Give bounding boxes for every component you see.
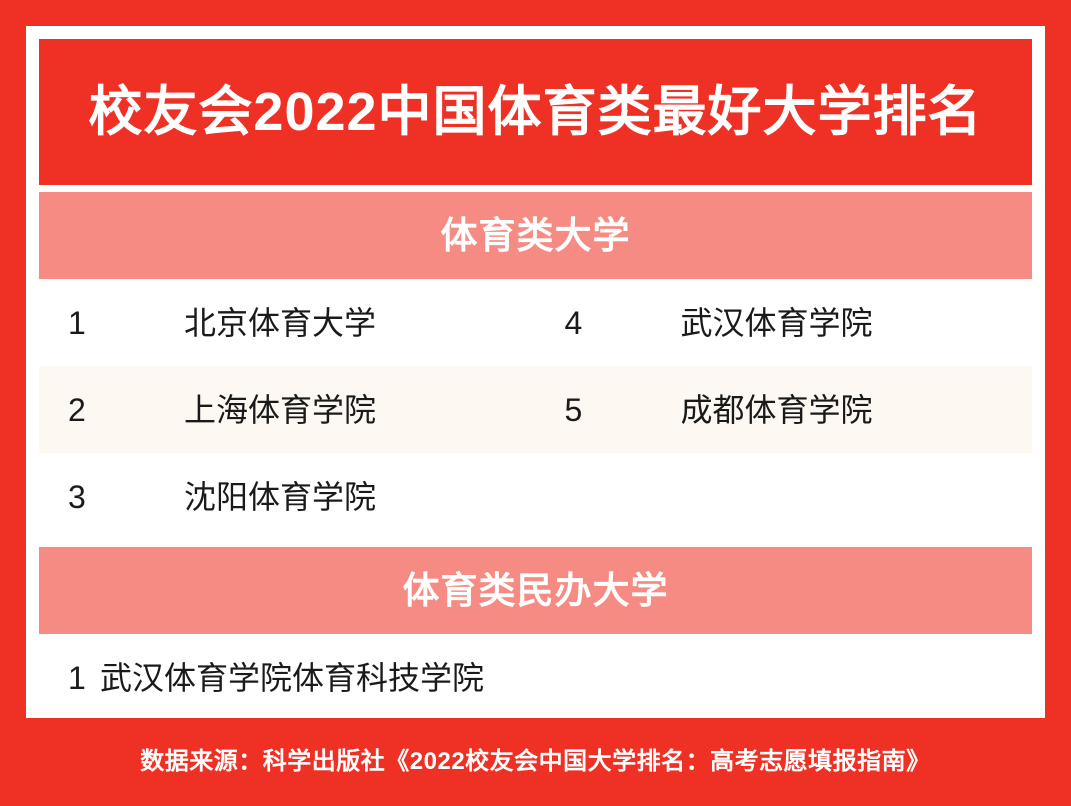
- title-bar: 校友会2022中国体育类最好大学排名: [39, 39, 1032, 185]
- table-cell-right: [536, 634, 1033, 721]
- rank-number: 1: [39, 307, 184, 339]
- footer-bar: 数据来源：科学出版社《2022校友会中国大学排名：高考志愿填报指南》: [0, 718, 1071, 806]
- rank-number: 5: [536, 394, 681, 426]
- table-cell-right: 5 成都体育学院: [536, 366, 1033, 453]
- university-name: 成都体育学院: [681, 394, 873, 426]
- section-header-private: 体育类民办大学: [39, 547, 1032, 634]
- university-name: 上海体育学院: [184, 394, 376, 426]
- table-cell-right: [536, 453, 1033, 540]
- rank-number: 3: [39, 481, 184, 513]
- rank-number: 2: [39, 394, 184, 426]
- section-header-private-label: 体育类民办大学: [403, 572, 669, 609]
- university-name: 武汉体育学院体育科技学院: [100, 662, 484, 694]
- section-header-public: 体育类大学: [39, 192, 1032, 279]
- table-row: 2 上海体育学院 5 成都体育学院: [39, 366, 1032, 453]
- table-row: 1 北京体育大学 4 武汉体育学院: [39, 279, 1032, 366]
- table-cell-left: 1 武汉体育学院体育科技学院: [39, 634, 536, 721]
- data-source-note: 数据来源：科学出版社《2022校友会中国大学排名：高考志愿填报指南》: [140, 750, 930, 774]
- rank-number: 4: [536, 307, 681, 339]
- table-cell-right: 4 武汉体育学院: [536, 279, 1033, 366]
- ranking-table-public: 1 北京体育大学 4 武汉体育学院 2 上海体育学院 5 成都体育学院: [39, 279, 1032, 540]
- table-cell-left: 3 沈阳体育学院: [39, 453, 536, 540]
- table-row: 1 武汉体育学院体育科技学院: [39, 634, 1032, 721]
- table-cell-left: 2 上海体育学院: [39, 366, 536, 453]
- page-title: 校友会2022中国体育类最好大学排名: [88, 85, 982, 139]
- university-name: 北京体育大学: [184, 307, 376, 339]
- table-cell-left: 1 北京体育大学: [39, 279, 536, 366]
- content-card: 校友会2022中国体育类最好大学排名 体育类大学 1 北京体育大学 4 武汉体育…: [26, 26, 1045, 718]
- section-header-public-label: 体育类大学: [441, 217, 631, 254]
- ranking-table-private: 1 武汉体育学院体育科技学院: [39, 634, 1032, 721]
- university-name: 沈阳体育学院: [184, 481, 376, 513]
- table-row: 3 沈阳体育学院: [39, 453, 1032, 540]
- rank-number: 1: [39, 662, 100, 694]
- poster-root: 校友会2022中国体育类最好大学排名 体育类大学 1 北京体育大学 4 武汉体育…: [0, 0, 1071, 806]
- university-name: 武汉体育学院: [681, 307, 873, 339]
